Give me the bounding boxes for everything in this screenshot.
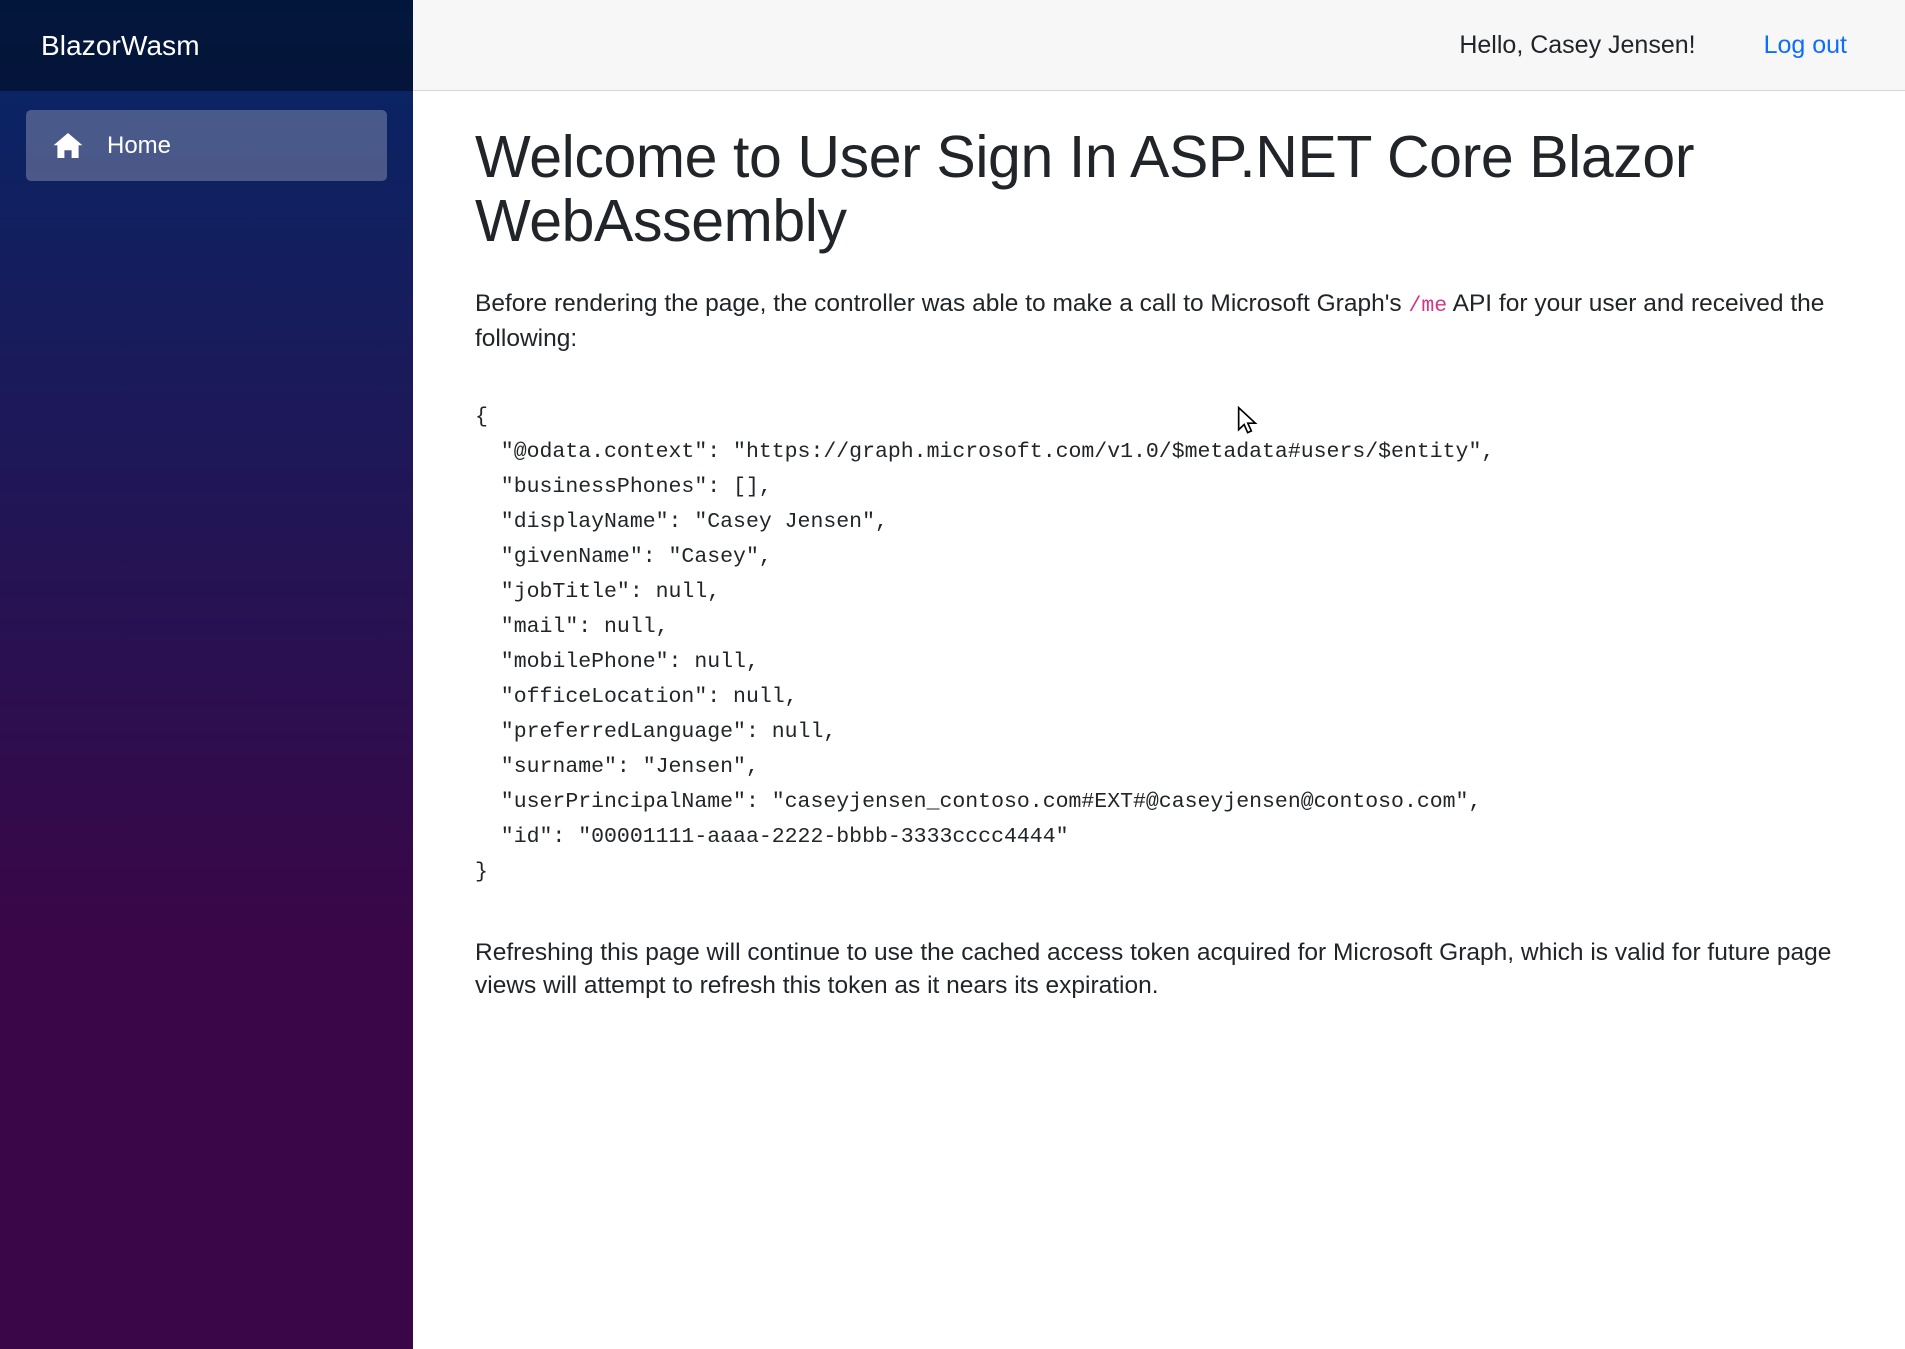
graph-response-code-block: { "@odata.context": "https://graph.micro… (475, 400, 1843, 890)
outro-paragraph: Refreshing this page will continue to us… (475, 936, 1843, 1003)
user-greeting: Hello, Casey Jensen! (1459, 31, 1695, 60)
intro-text-before: Before rendering the page, the controlle… (475, 290, 1408, 317)
sidebar: BlazorWasm Home (0, 0, 413, 1349)
page-title: Welcome to User Sign In ASP.NET Core Bla… (475, 126, 1843, 253)
sidebar-item-home-label: Home (107, 134, 171, 158)
sidebar-item-home-link[interactable]: Home (26, 110, 387, 181)
home-icon (52, 130, 84, 162)
top-bar: Hello, Casey Jensen! Log out (413, 0, 1905, 91)
sidebar-nav: Home (0, 91, 413, 181)
intro-paragraph: Before rendering the page, the controlle… (475, 287, 1843, 355)
main-area: Hello, Casey Jensen! Log out Welcome to … (413, 0, 1905, 1349)
page-content: Welcome to User Sign In ASP.NET Core Bla… (413, 91, 1905, 1349)
sidebar-item-home[interactable]: Home (0, 110, 413, 181)
log-out-button[interactable]: Log out (1764, 31, 1847, 60)
brand-link[interactable]: BlazorWasm (41, 30, 200, 62)
sidebar-brand-bar: BlazorWasm (0, 0, 413, 91)
app-root: BlazorWasm Home Hello, Casey Jensen! Log… (0, 0, 1905, 1349)
me-endpoint-code: /me (1408, 294, 1447, 318)
